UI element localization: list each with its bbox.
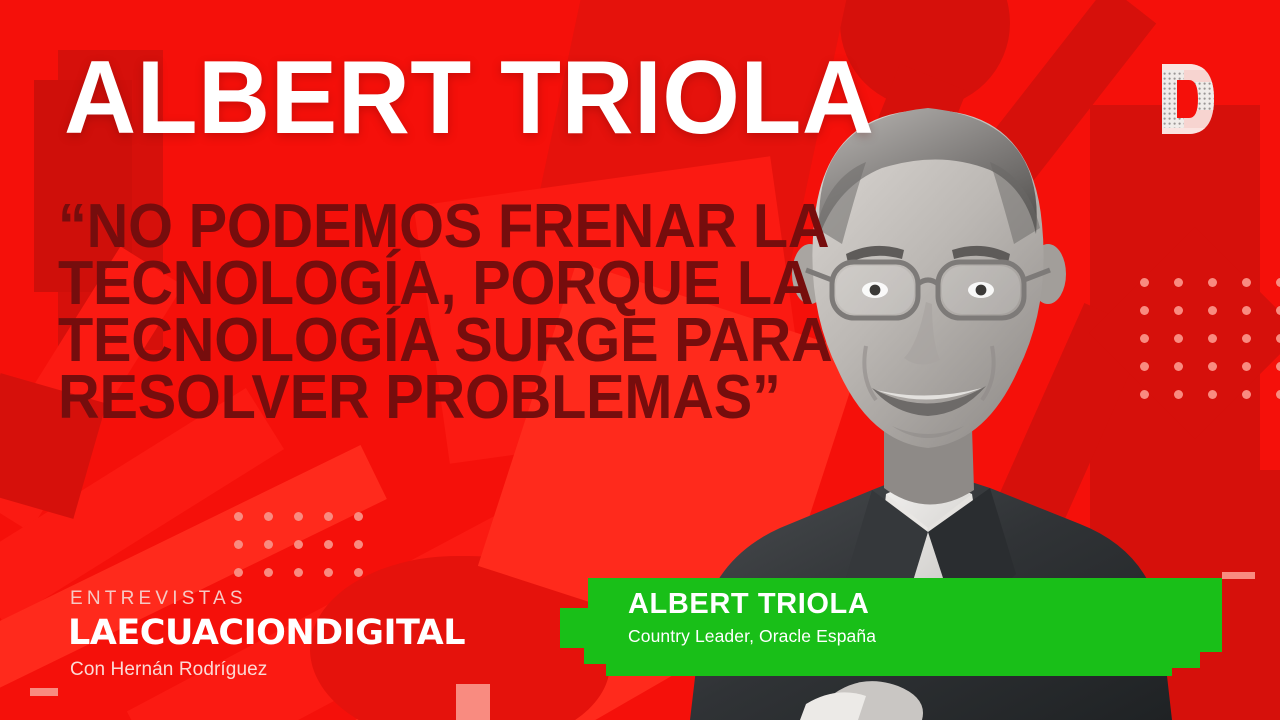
accent-dash-bottom-left	[30, 688, 58, 696]
d-logo	[1158, 62, 1216, 136]
brand-kicker: ENTREVISTAS	[70, 588, 465, 610]
quote-line-2: TECNOLOGÍA, PORQUE LA	[58, 255, 737, 312]
quote-line-1: “NO PODEMOS FRENAR LA	[58, 198, 737, 255]
interview-thumbnail: ALBERT TRIOLA “NO PODEMOS FRENAR LA TECN…	[0, 0, 1280, 720]
quote-text: “NO PODEMOS FRENAR LA TECNOLOGÍA, PORQUE…	[58, 198, 737, 426]
quote-line-3: TECNOLOGÍA SURGE PARA	[58, 312, 737, 369]
quote-line-4: RESOLVER PROBLEMAS”	[58, 369, 737, 426]
accent-square-bottom	[456, 684, 490, 720]
brand-block: ENTREVISTAS LAECUACIONDIGITAL Con Hernán…	[68, 588, 465, 681]
brand-wordmark: LAECUACIONDIGITAL	[68, 613, 465, 653]
page-title: ALBERT TRIOLA	[64, 48, 874, 150]
brand-host: Con Hernán Rodríguez	[70, 659, 465, 681]
